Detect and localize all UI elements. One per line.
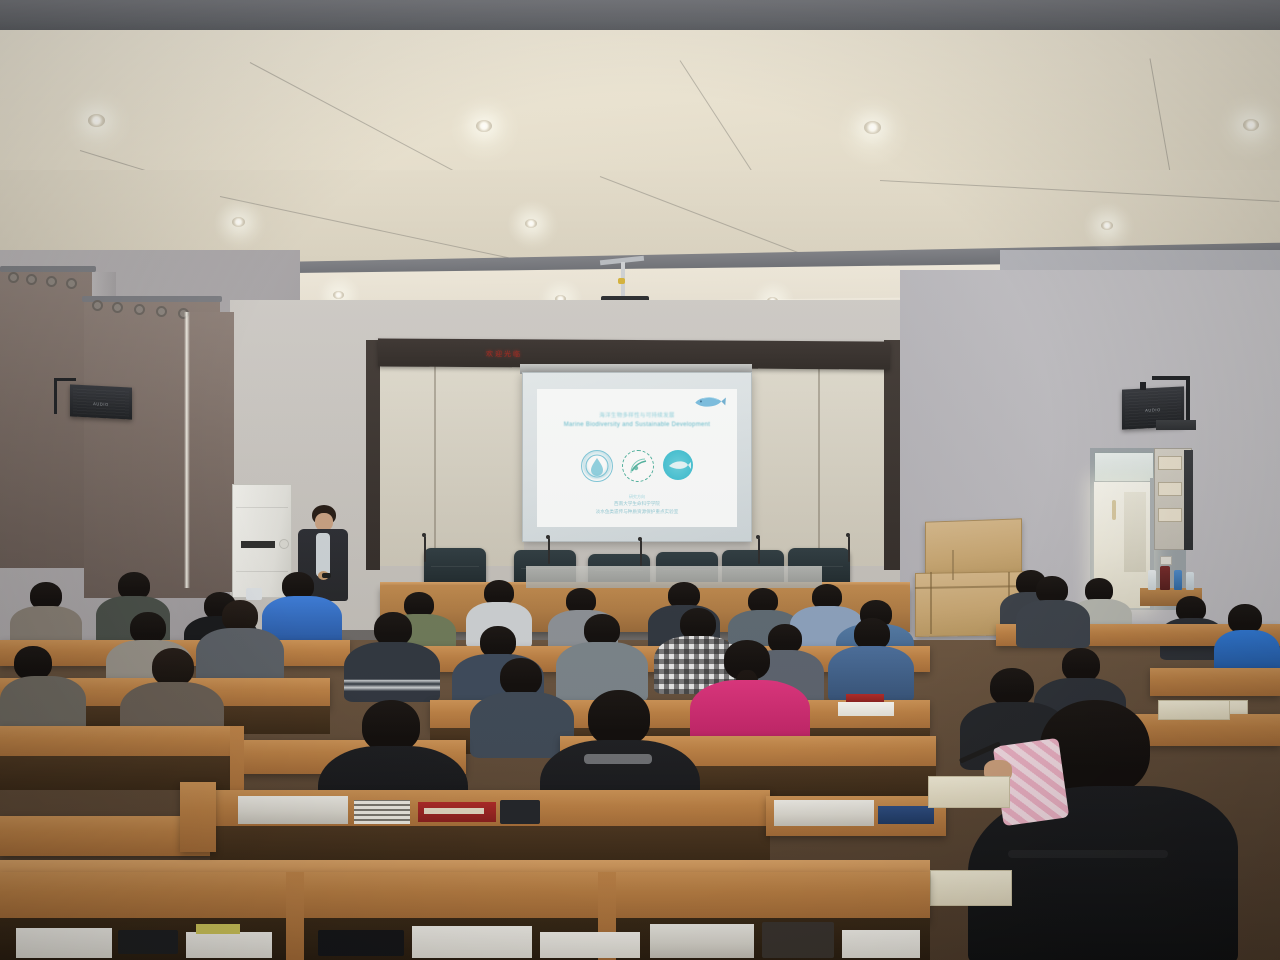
- stacked-books[interactable]: [354, 800, 410, 824]
- slide-title-line2: Marine Biodiversity and Sustainable Deve…: [549, 421, 725, 430]
- ac-knob-icon[interactable]: [279, 539, 289, 549]
- wall-panel-right-of-screen: [750, 366, 892, 566]
- calculator-icon[interactable]: [118, 930, 178, 954]
- loudspeaker-left: AUDIO: [70, 384, 132, 419]
- microphone-head-icon: [422, 533, 426, 537]
- lecture-hall-photo: 欢迎光临 海洋生物多样性与可持续发展 Marine Biodiversity a…: [0, 0, 1280, 960]
- fish-icon: [693, 393, 727, 411]
- speaker-bracket-left-post: [54, 378, 57, 414]
- bag-on-shelf[interactable]: [762, 922, 834, 958]
- stacked-books[interactable]: [774, 800, 874, 826]
- badge-fish-icon: [663, 450, 693, 480]
- door-handle-icon[interactable]: [1112, 500, 1116, 520]
- curtain-grommet: [134, 304, 145, 315]
- doorway-far-wall: [1124, 492, 1146, 572]
- microphone-4: [758, 538, 760, 564]
- open-notebook[interactable]: [928, 776, 1010, 808]
- wall-edge-dark-left: [366, 340, 380, 570]
- wall-edge-dark-right: [884, 340, 900, 570]
- papers-on-shelf[interactable]: [540, 932, 640, 958]
- speaker-bracket-right-post: [1186, 376, 1190, 420]
- desk-row-3-left: [0, 726, 240, 760]
- notice-item[interactable]: [1158, 482, 1182, 496]
- attendee-row3-a: [0, 646, 86, 730]
- wall-bracket-shadow: [1156, 420, 1196, 430]
- microphone-3: [640, 540, 642, 566]
- desk-divider: [286, 872, 304, 960]
- book-label: [424, 808, 484, 814]
- speaker-brand-label: AUDIO: [1145, 407, 1161, 413]
- wall-panel-seam: [818, 366, 820, 566]
- curtain-grommet: [156, 306, 167, 317]
- led-board-text: 欢迎光临: [486, 349, 522, 359]
- attendee-row4-h: [828, 618, 914, 700]
- stacked-books[interactable]: [650, 924, 754, 958]
- microphone-head-icon: [846, 533, 850, 537]
- microphone-head-icon: [546, 535, 550, 539]
- projection-screen: 海洋生物多样性与可持续发展 Marine Biodiversity and Su…: [522, 372, 752, 542]
- presentation-slide: 海洋生物多样性与可持续发展 Marine Biodiversity and Su…: [537, 389, 737, 527]
- speaker-bracket-left: [54, 378, 76, 381]
- downlight-6: [525, 219, 537, 228]
- bottle-water[interactable]: [1148, 570, 1156, 590]
- projector-indicator-icon: [618, 278, 625, 284]
- microphone-1: [424, 536, 426, 562]
- downlight-5: [232, 217, 245, 227]
- calculator-icon[interactable]: [318, 930, 404, 956]
- papers-on-shelf[interactable]: [412, 926, 532, 958]
- curtain-rod: [82, 296, 222, 302]
- microphone-5: [848, 536, 850, 562]
- wall-panel-seam: [434, 366, 436, 566]
- door-transom-window: [1094, 452, 1154, 482]
- downlight-8: [333, 291, 344, 299]
- smartphone-icon[interactable]: [246, 588, 262, 600]
- desk-row-4-right: [1150, 668, 1280, 696]
- attendee-black-puffer-front: [968, 700, 1238, 960]
- notice-item[interactable]: [1158, 508, 1182, 522]
- curtain-left-edge: [190, 312, 234, 592]
- speaker-cable: [1140, 382, 1146, 390]
- curtain-left-far: [0, 268, 92, 568]
- jacket-seam: [1008, 850, 1168, 858]
- light-switch-icon[interactable]: [1160, 556, 1172, 565]
- ac-vent-icon: [241, 541, 275, 548]
- slide-badge-caption: 研究方向: [537, 494, 737, 500]
- open-notebook[interactable]: [930, 870, 1012, 906]
- carton-lid-seam: [952, 550, 954, 580]
- badge-water-drop-icon: [581, 450, 613, 482]
- downlight-2: [476, 120, 492, 132]
- slide-footer: 西南大学生命科学学院 淡水鱼类遗传与种质资源保护重点实验室: [545, 500, 729, 516]
- bag-on-shelf[interactable]: [500, 800, 540, 824]
- slide-title-line1: 海洋生物多样性与可持续发展: [549, 412, 725, 421]
- bottle-blue[interactable]: [1174, 570, 1182, 590]
- wall-dark-strip: [1184, 450, 1193, 550]
- papers-on-shelf[interactable]: [16, 928, 112, 958]
- ac-seam: [236, 507, 288, 508]
- attendee-striped-sweater: [344, 612, 440, 700]
- attendee-pink-jacket: [690, 640, 810, 748]
- attendee-row4-i: [1016, 576, 1090, 644]
- carton-strap: [930, 572, 932, 634]
- curtain-grommet: [112, 302, 123, 313]
- microphone-head-icon: [638, 537, 642, 541]
- sticky-note[interactable]: [196, 924, 240, 934]
- badge-laurel-icon: [622, 450, 654, 482]
- curtain-grommet: [46, 276, 57, 287]
- desk-row-1-front: [0, 872, 930, 922]
- bottle-thermos[interactable]: [1160, 566, 1170, 590]
- book-blue[interactable]: [878, 806, 934, 824]
- curtain-grommet: [66, 278, 77, 289]
- attendee-row4-j: [1214, 604, 1280, 676]
- papers-on-shelf[interactable]: [842, 930, 920, 958]
- bottle-plastic[interactable]: [1186, 572, 1194, 590]
- downlight-7: [1101, 221, 1113, 230]
- curtain-grommet: [92, 300, 103, 311]
- slide-title-block: 海洋生物多样性与可持续发展 Marine Biodiversity and Su…: [549, 412, 725, 430]
- wall-panel-left-of-screen: [378, 366, 524, 566]
- papers-on-desk[interactable]: [838, 702, 894, 716]
- slide-footer-line1: 西南大学生命科学学院: [545, 500, 729, 508]
- microphone-head-icon: [756, 535, 760, 539]
- book-red[interactable]: [846, 694, 884, 702]
- papers-on-shelf[interactable]: [186, 932, 272, 958]
- slide-badge-row: [537, 450, 737, 482]
- curtain-grommet: [8, 272, 19, 283]
- notice-item[interactable]: [1158, 456, 1182, 470]
- stacked-books[interactable]: [238, 796, 348, 824]
- speaker-brand-label: AUDIO: [93, 401, 109, 407]
- downlight-3: [864, 121, 881, 134]
- curtain-grommet: [26, 274, 37, 285]
- downlight-1: [88, 114, 105, 127]
- attendee-gray-sweater: [10, 582, 82, 648]
- desk-end-panel: [180, 782, 216, 852]
- collar-detail: [584, 754, 652, 764]
- downlight-4: [1243, 119, 1259, 131]
- slide-footer-line2: 淡水鱼类遗传与种质资源保护重点实验室: [545, 508, 729, 516]
- microphone-2: [548, 538, 550, 564]
- speaker-bracket-right: [1152, 376, 1190, 380]
